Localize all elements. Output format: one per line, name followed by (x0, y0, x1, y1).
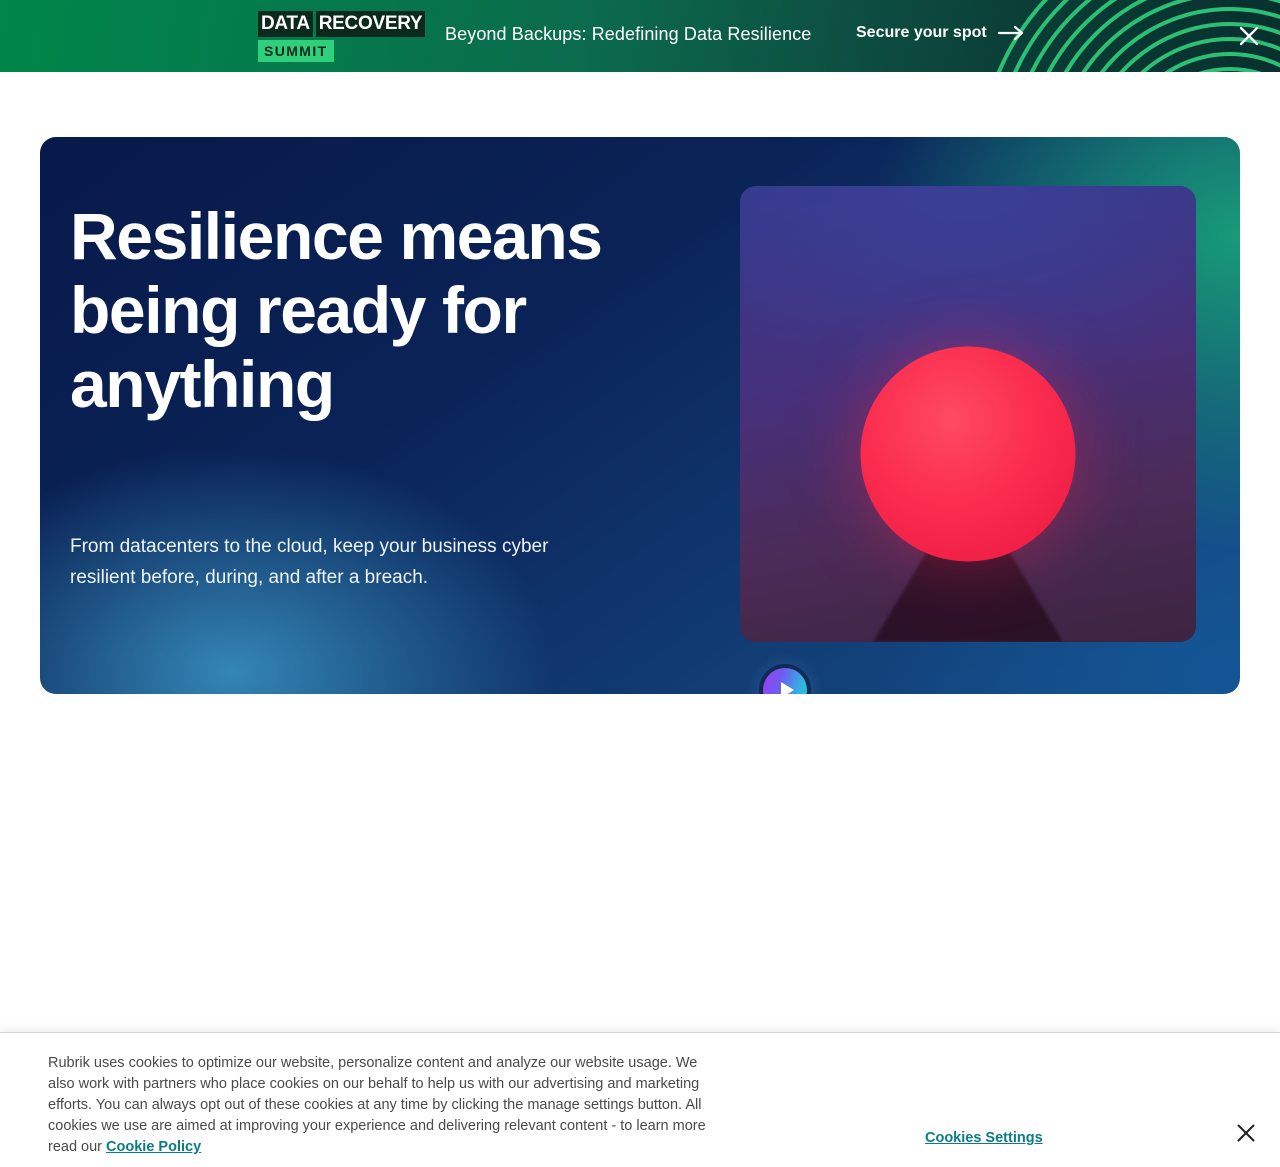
hero-card: Resilience means being ready for anythin… (40, 137, 1240, 694)
cookie-policy-link[interactable]: Cookie Policy (106, 1139, 201, 1155)
red-sphere-graphic (861, 347, 1076, 562)
video-thumbnail[interactable] (740, 186, 1196, 642)
logo-line-1: DATA RECOVERY (258, 11, 414, 37)
arrow-right-icon (998, 25, 1025, 41)
promo-banner: DATA RECOVERY SUMMIT Beyond Backups: Red… (0, 0, 1280, 72)
cookie-banner-close-button[interactable] (1234, 1121, 1258, 1145)
cookies-settings-button[interactable]: Cookies Settings (925, 1130, 1043, 1146)
logo-word-summit: SUMMIT (258, 40, 334, 62)
promo-close-button[interactable] (1236, 23, 1262, 49)
summit-logo[interactable]: DATA RECOVERY SUMMIT (258, 11, 414, 62)
logo-word-data: DATA (258, 11, 313, 37)
play-triangle (781, 682, 794, 694)
hero-title: Resilience means being ready for anythin… (70, 199, 690, 421)
logo-word-recovery: RECOVERY (316, 11, 426, 37)
cookie-policy-text: Rubrik uses cookies to optimize our webs… (48, 1053, 708, 1158)
hero-subtitle: From datacenters to the cloud, keep your… (70, 531, 610, 593)
cookie-consent-banner: Rubrik uses cookies to optimize our webs… (0, 1032, 1280, 1167)
secure-your-spot-link[interactable]: Secure your spot (856, 24, 1025, 42)
video-play-button[interactable] (748, 653, 822, 694)
close-icon (1236, 23, 1262, 49)
promo-headline: Beyond Backups: Redefining Data Resilien… (445, 24, 811, 45)
close-icon (1234, 1121, 1258, 1145)
secure-your-spot-label: Secure your spot (856, 24, 987, 42)
